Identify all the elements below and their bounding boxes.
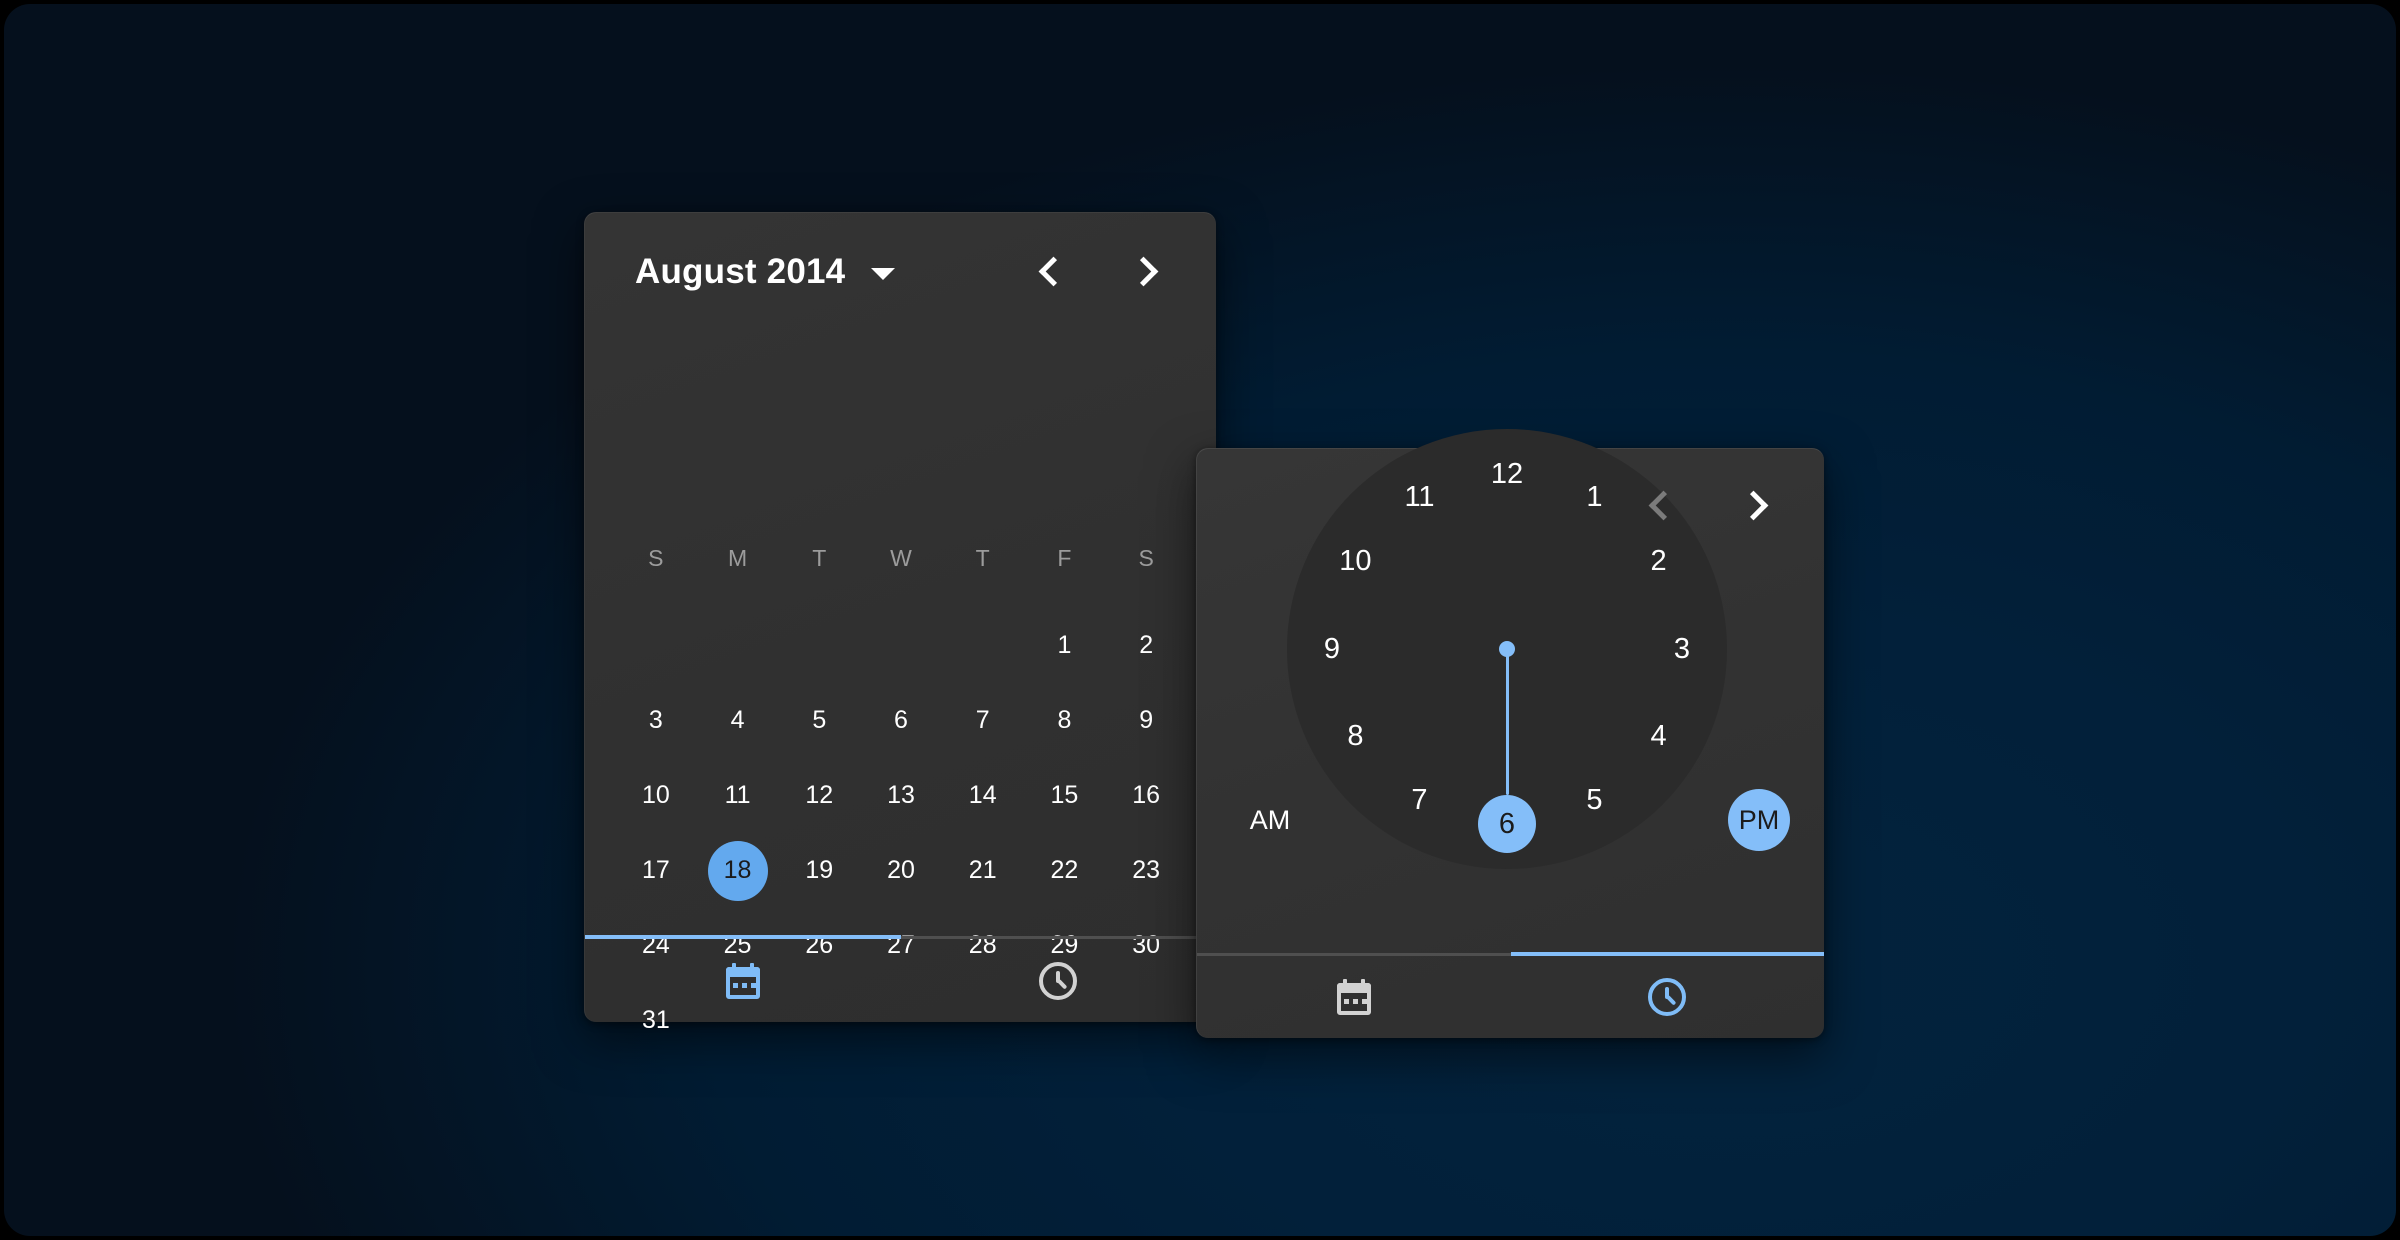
- date-picker-dialog: August 2014 S M T W T F: [584, 212, 1216, 1022]
- day-number: 5: [812, 708, 826, 733]
- day-number: 17: [642, 858, 670, 883]
- clock-hour[interactable]: 4: [1630, 708, 1688, 766]
- day-cell[interactable]: 10: [615, 758, 697, 833]
- month-year-label: August 2014: [635, 252, 845, 292]
- day-cell[interactable]: 2: [1105, 608, 1187, 683]
- day-cell-empty: [942, 608, 1024, 683]
- day-cell[interactable]: 15: [1024, 758, 1106, 833]
- day-number: 22: [1051, 858, 1079, 883]
- day-cell[interactable]: 1: [1024, 608, 1106, 683]
- chevron-left-icon: [1041, 257, 1058, 287]
- day-cell[interactable]: 13: [860, 758, 942, 833]
- clock-icon: [1648, 978, 1686, 1016]
- day-cell-empty: [860, 608, 942, 683]
- day-cell[interactable]: 3: [615, 683, 697, 758]
- day-number: 19: [805, 858, 833, 883]
- date-nav-group: [1018, 213, 1172, 331]
- pm-button[interactable]: PM: [1728, 789, 1790, 851]
- tab-date[interactable]: [585, 939, 901, 1022]
- clock-hour-selected[interactable]: 6: [1478, 795, 1536, 853]
- week-row: 3456789: [615, 683, 1187, 758]
- chevron-right-icon: [1133, 257, 1150, 287]
- clock-hour[interactable]: 1: [1566, 468, 1624, 526]
- day-number: 1: [1057, 633, 1071, 658]
- next-month-button[interactable]: [1110, 241, 1172, 303]
- day-number: 18: [708, 841, 768, 901]
- day-number: 23: [1132, 858, 1160, 883]
- week-row: 17181920212223: [615, 833, 1187, 908]
- desktop-background: August 2014 S M T W T F: [4, 4, 2396, 1236]
- day-cell[interactable]: 14: [942, 758, 1024, 833]
- time-picker-dialog: 121234567891011 AM PM: [1196, 448, 1824, 1038]
- chevron-right-icon: [1743, 491, 1760, 521]
- weekday-label: F: [1024, 543, 1106, 573]
- screen: August 2014 S M T W T F: [0, 0, 2400, 1240]
- day-cell-empty: [697, 608, 779, 683]
- day-number: 8: [1057, 708, 1071, 733]
- weekday-label: T: [942, 543, 1024, 573]
- next-button[interactable]: [1720, 475, 1782, 537]
- day-number: 13: [887, 783, 915, 808]
- day-number: 10: [642, 783, 670, 808]
- clock-hour[interactable]: 12: [1478, 445, 1536, 503]
- day-number: 6: [894, 708, 908, 733]
- date-picker-header: August 2014: [585, 213, 1216, 331]
- day-cell[interactable]: 6: [860, 683, 942, 758]
- day-cell[interactable]: 8: [1024, 683, 1106, 758]
- weekday-label: W: [860, 543, 942, 573]
- time-nav-group: [1628, 461, 1782, 551]
- calendar-icon: [1337, 979, 1371, 1015]
- day-number: 11: [725, 783, 751, 808]
- day-cell[interactable]: 20: [860, 833, 942, 908]
- clock-hand: [1506, 649, 1509, 795]
- clock-hour[interactable]: 8: [1326, 708, 1384, 766]
- day-cell[interactable]: 11: [697, 758, 779, 833]
- am-button[interactable]: AM: [1235, 789, 1305, 851]
- day-cell-empty: [778, 608, 860, 683]
- day-number: 16: [1132, 783, 1160, 808]
- day-number: 21: [969, 858, 997, 883]
- day-cell[interactable]: 21: [942, 833, 1024, 908]
- prev-button[interactable]: [1628, 475, 1690, 537]
- day-cell-selected[interactable]: 18: [697, 833, 779, 908]
- calendar-icon: [726, 963, 760, 999]
- day-cell[interactable]: 5: [778, 683, 860, 758]
- day-cell[interactable]: 22: [1024, 833, 1106, 908]
- time-picker-tabbar: [1197, 956, 1824, 1038]
- clock-center-dot: [1499, 641, 1515, 657]
- clock-hour[interactable]: 7: [1391, 772, 1449, 830]
- weekday-label: T: [778, 543, 860, 573]
- month-year-selector[interactable]: August 2014: [635, 252, 895, 292]
- day-cell[interactable]: 4: [697, 683, 779, 758]
- day-number: 4: [731, 708, 745, 733]
- clock-hour[interactable]: 10: [1326, 533, 1384, 591]
- day-number: 14: [969, 783, 997, 808]
- day-number: 9: [1139, 708, 1153, 733]
- day-number: 12: [805, 783, 833, 808]
- weekday-header-row: S M T W T F S: [615, 543, 1187, 573]
- day-number: 7: [976, 708, 990, 733]
- tab-time[interactable]: [901, 939, 1217, 1022]
- date-picker-tabbar: [585, 939, 1216, 1022]
- caret-down-icon: [871, 268, 895, 280]
- week-row: 12: [615, 608, 1187, 683]
- week-row: 10111213141516: [615, 758, 1187, 833]
- day-cell[interactable]: 9: [1105, 683, 1187, 758]
- tab-time[interactable]: [1511, 956, 1825, 1038]
- day-cell[interactable]: 7: [942, 683, 1024, 758]
- day-cell[interactable]: 12: [778, 758, 860, 833]
- day-number: 3: [649, 708, 663, 733]
- day-cell-empty: [615, 608, 697, 683]
- day-cell[interactable]: 16: [1105, 758, 1187, 833]
- day-number: 2: [1139, 633, 1153, 658]
- tab-date[interactable]: [1197, 956, 1511, 1038]
- day-cell[interactable]: 17: [615, 833, 697, 908]
- chevron-left-icon: [1651, 491, 1668, 521]
- clock-hour[interactable]: 11: [1391, 468, 1449, 526]
- day-number: 20: [887, 858, 915, 883]
- weekday-label: S: [615, 543, 697, 573]
- clock-hour[interactable]: 5: [1566, 772, 1624, 830]
- weekday-label: M: [697, 543, 779, 573]
- day-number: 15: [1051, 783, 1079, 808]
- day-cell[interactable]: 19: [778, 833, 860, 908]
- prev-month-button[interactable]: [1018, 241, 1080, 303]
- day-cell[interactable]: 23: [1105, 833, 1187, 908]
- clock-hour[interactable]: 9: [1303, 620, 1361, 678]
- clock-hour[interactable]: 3: [1653, 620, 1711, 678]
- clock-icon: [1039, 962, 1077, 1000]
- weekday-label: S: [1105, 543, 1187, 573]
